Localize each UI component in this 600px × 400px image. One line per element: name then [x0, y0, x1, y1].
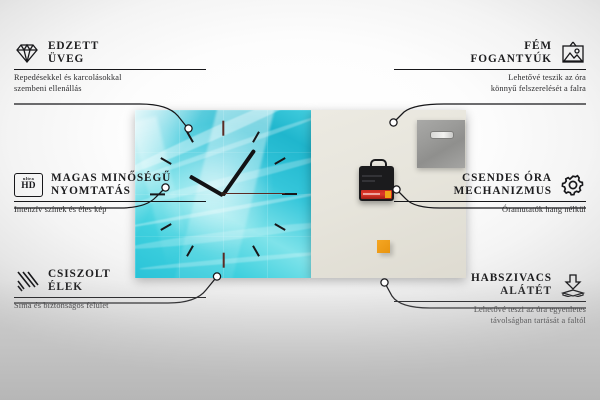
feature-header: CSENDES ÓRA MECHANIZMUS	[394, 172, 586, 197]
divider	[14, 201, 206, 202]
feature-silent-mechanism[interactable]: CSENDES ÓRA MECHANIZMUS Óramutatók hang …	[394, 172, 586, 216]
battery-label	[363, 193, 380, 195]
arrow-down-pad-icon	[560, 273, 586, 297]
ultra-hd-icon: ultra HD	[14, 173, 43, 197]
feature-header: CSISZOLT ÉLEK	[14, 268, 206, 293]
diamond-icon	[14, 41, 40, 65]
picture-frame-hanger-icon	[560, 41, 586, 65]
battery	[361, 190, 392, 199]
feature-metal-handles[interactable]: FÉM FOGANTYÚK Lehetővé teszik az óra kön…	[394, 40, 586, 94]
feature-header: FÉM FOGANTYÚK	[394, 40, 586, 65]
feature-title: FÉM FOGANTYÚK	[470, 40, 552, 65]
polished-edges-icon	[14, 269, 40, 293]
feature-header: ultra HD MAGAS MINŐSÉGŰ NYOMTATÁS	[14, 172, 206, 197]
clock-tick	[222, 253, 224, 268]
feature-header: HABSZIVACS ALÁTÉT	[394, 272, 586, 297]
feature-header: EDZETT ÜVEG	[14, 40, 206, 65]
feature-tempered-glass[interactable]: EDZETT ÜVEG Repedésekkel és karcolásokka…	[14, 40, 206, 94]
feature-description: Sima és biztonságos felület	[14, 301, 206, 311]
battery-positive-terminal	[385, 191, 391, 198]
feature-high-quality-print[interactable]: ultra HD MAGAS MINŐSÉGŰ NYOMTATÁS Intenz…	[14, 172, 206, 216]
divider	[394, 301, 586, 302]
mechanism-hanging-loop	[370, 159, 387, 170]
feature-title: HABSZIVACS ALÁTÉT	[471, 272, 552, 297]
foam-spacer-pad	[377, 240, 390, 253]
feature-title: CSISZOLT ÉLEK	[48, 268, 111, 293]
hanger-slot	[430, 131, 454, 139]
mechanism-detail	[362, 175, 382, 177]
divider	[394, 69, 586, 70]
feature-title: MAGAS MINŐSÉGŰ NYOMTATÁS	[51, 172, 171, 197]
feature-description: Intenzív színek és éles kép	[14, 205, 206, 215]
quartz-clock-mechanism	[359, 166, 394, 201]
divider	[14, 69, 206, 70]
feature-description: Lehetővé teszik az óra könnyű felszerelé…	[394, 73, 586, 93]
divider	[394, 201, 586, 202]
gear-icon	[560, 173, 586, 197]
clock-tick	[222, 121, 224, 136]
feature-polished-edges[interactable]: CSISZOLT ÉLEK Sima és biztonságos felüle…	[14, 268, 206, 312]
feature-description: Lehetővé teszi az óra egyenletes távolsá…	[394, 305, 586, 325]
feature-title: CSENDES ÓRA MECHANIZMUS	[454, 172, 552, 197]
clock-center-pin	[221, 192, 225, 196]
metal-hanger-bracket	[417, 120, 465, 168]
mechanism-detail	[362, 180, 375, 182]
infographic-canvas: EDZETT ÜVEG Repedésekkel és karcolásokka…	[0, 0, 600, 400]
divider	[14, 297, 206, 298]
feature-description: Repedésekkel és karcolásokkal szembeni e…	[14, 73, 206, 93]
feature-foam-pad[interactable]: HABSZIVACS ALÁTÉT Lehetővé teszi az óra …	[394, 272, 586, 326]
feature-title: EDZETT ÜVEG	[48, 40, 99, 65]
feature-description: Óramutatók hang nélkül	[394, 205, 586, 215]
